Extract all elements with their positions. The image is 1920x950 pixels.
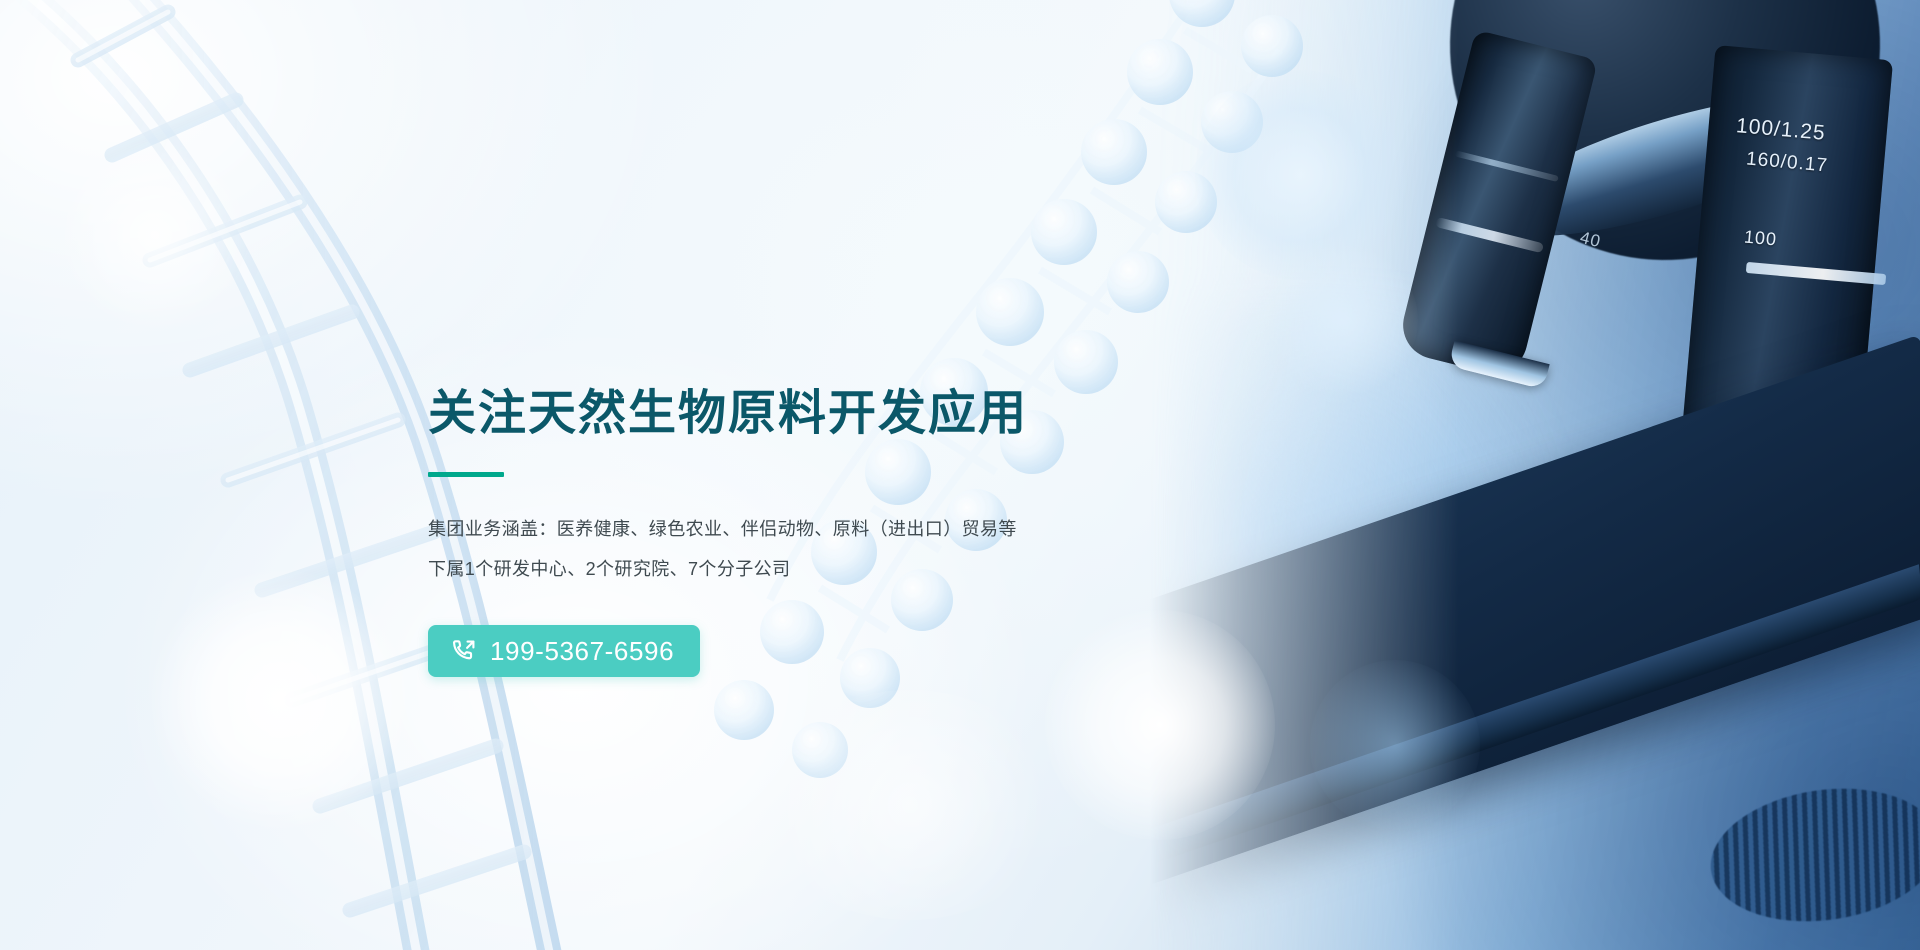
hero-description-line-1: 集团业务涵盖：医养健康、绿色农业、伴侣动物、原料（进出口）贸易等 [428, 509, 1328, 549]
page-title: 关注天然生物原料开发应用 [428, 386, 1328, 441]
phone-outgoing-icon [450, 638, 477, 665]
hero-content: 关注天然生物原料开发应用 集团业务涵盖：医养健康、绿色农业、伴侣动物、原料（进出… [428, 386, 1328, 677]
microscope-focus-knob [1702, 775, 1920, 936]
hero-description-line-2: 下属1个研发中心、2个研究院、7个分子公司 [428, 549, 1328, 589]
objective-label-100: 100 [1743, 227, 1778, 251]
hero-description: 集团业务涵盖：医养健康、绿色农业、伴侣动物、原料（进出口）贸易等 下属1个研发中… [428, 509, 1328, 589]
title-underline-rule [428, 472, 504, 477]
phone-cta-button[interactable]: 199-5367-6596 [428, 625, 700, 677]
phone-number-label: 199-5367-6596 [490, 638, 674, 664]
hero-banner: 40 100/1.25 160/0.17 100 [0, 0, 1920, 950]
